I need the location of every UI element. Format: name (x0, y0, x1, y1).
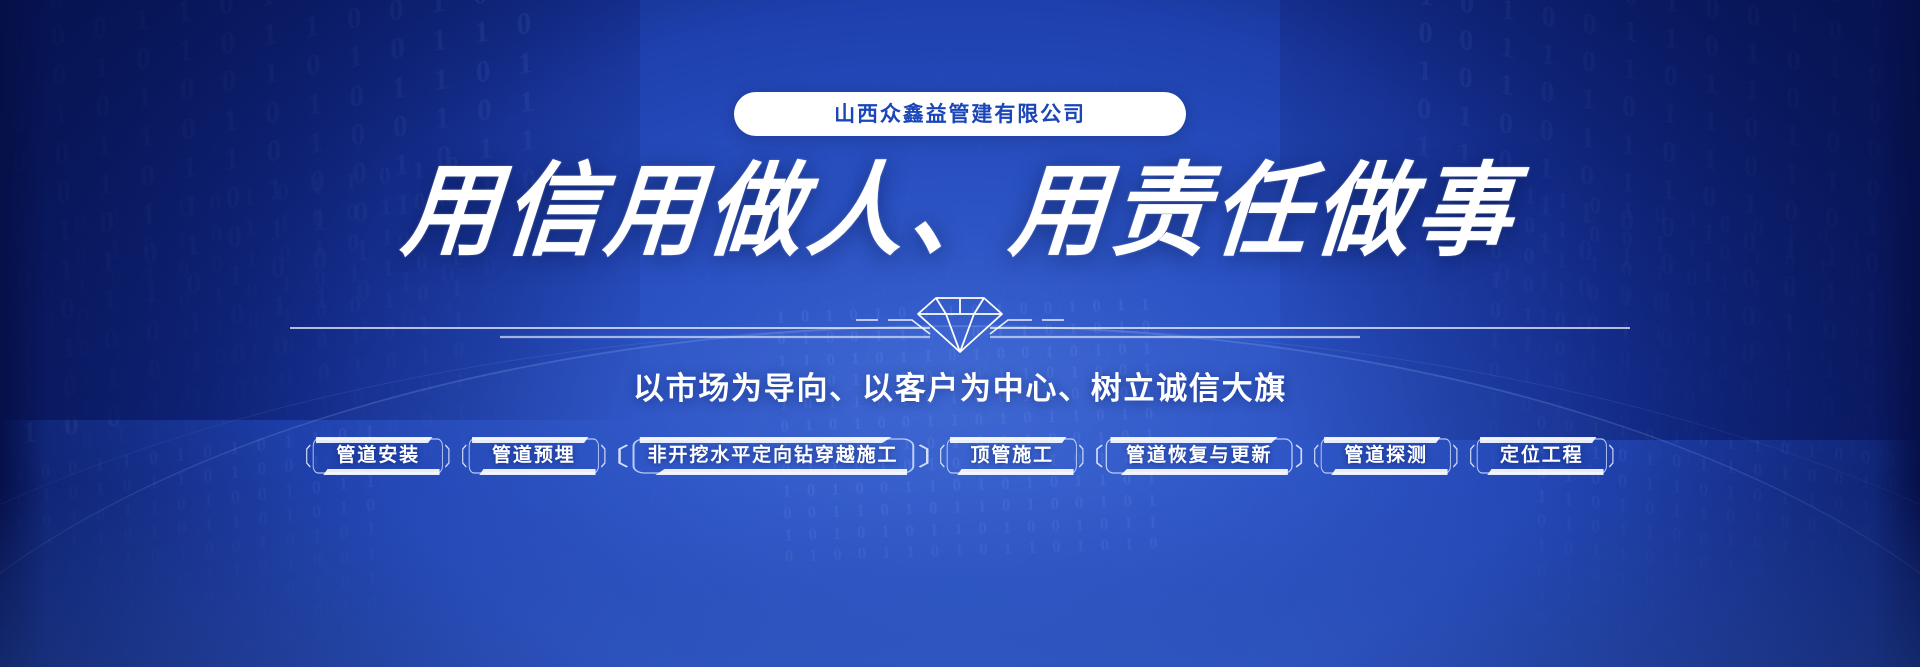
company-name-label: 山西众鑫益管建有限公司 (834, 104, 1086, 125)
service-tags-list: 管道安装 管道预埋 (306, 435, 1613, 477)
service-tag-label: 管道安装 (336, 446, 420, 465)
company-name-badge: 山西众鑫益管建有限公司 (734, 92, 1186, 136)
service-tag-positioning-engineering[interactable]: 定位工程 (1470, 435, 1614, 477)
service-tag-label: 顶管施工 (970, 446, 1054, 465)
diamond-divider (290, 290, 1630, 356)
service-tag-label: 管道探测 (1344, 446, 1428, 465)
headline-slogan: 用信用做人、用责任做事 (398, 155, 1522, 267)
service-tag-pipeline-pre-embedding[interactable]: 管道预埋 (462, 435, 606, 477)
service-tag-label: 非开挖水平定向钻穿越施工 (648, 446, 899, 465)
promotional-banner: 1 0 1 1 0 1 0 1 0 0 1 1 0 1 0 1 0 1 0 1 … (0, 0, 1920, 667)
banner-content: 山西众鑫益管建有限公司 用信用做人、用责任做事 (0, 0, 1920, 667)
service-tag-trenchless-hdd-crossing[interactable]: 非开挖水平定向钻穿越施工 (618, 435, 929, 477)
service-tag-pipeline-rehabilitation[interactable]: 管道恢复与更新 (1096, 435, 1302, 477)
service-tag-label: 定位工程 (1500, 446, 1584, 465)
diamond-icon (918, 298, 1002, 352)
service-tag-label: 管道恢复与更新 (1126, 446, 1272, 465)
service-tag-pipeline-detection[interactable]: 管道探测 (1314, 435, 1458, 477)
service-tag-pipe-jacking[interactable]: 顶管施工 (940, 435, 1084, 477)
subtitle-slogan: 以市场为导向、以客户为中心、树立诚信大旗 (633, 370, 1287, 407)
service-tag-pipeline-installation[interactable]: 管道安装 (306, 435, 450, 477)
service-tag-label: 管道预埋 (492, 446, 576, 465)
